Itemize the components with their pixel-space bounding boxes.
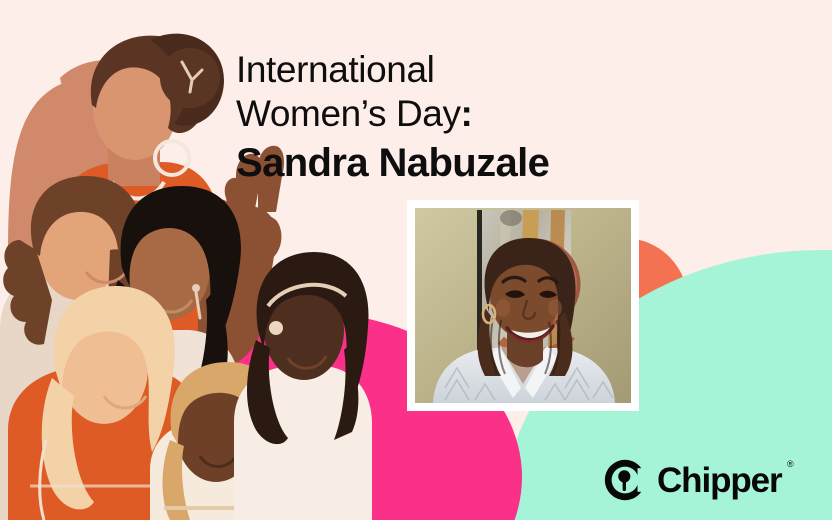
- portrait-photo-card: [407, 200, 639, 411]
- headline: International Women’s Day: Sandra Nabuza…: [236, 48, 706, 187]
- poster-canvas: International Women’s Day: Sandra Nabuza…: [0, 0, 832, 520]
- registered-trademark-icon: ®: [787, 460, 793, 469]
- chipper-circle-icon: [604, 459, 646, 501]
- chipper-wordmark: Chipper®: [657, 463, 782, 498]
- headline-line-2-text: Women’s Day: [236, 93, 461, 134]
- headline-colon: :: [461, 93, 473, 134]
- portrait-photo: [415, 208, 631, 403]
- headline-line-2: Women’s Day:: [236, 92, 706, 136]
- headline-person-name: Sandra Nabuzale: [236, 139, 706, 187]
- headline-line-1: International: [236, 48, 706, 92]
- chipper-wordmark-text: Chipper: [657, 461, 782, 500]
- chipper-logo: Chipper®: [604, 459, 782, 501]
